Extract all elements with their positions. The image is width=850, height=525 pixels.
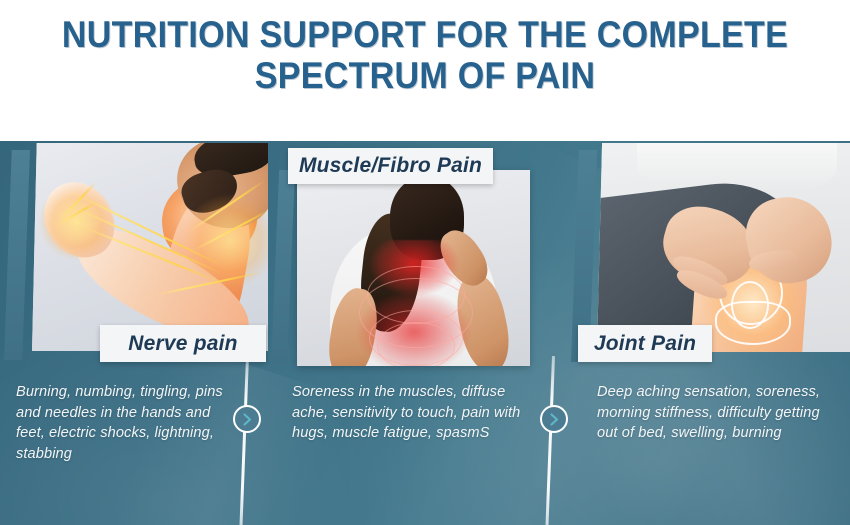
divider-chevron-badge-2 xyxy=(540,405,568,433)
nerve-pain-label-text: Nerve pain xyxy=(128,332,237,356)
page-title-line-1: NUTRITION SUPPORT FOR THE COMPLETE xyxy=(34,14,816,55)
nerve-pain-label: Nerve pain xyxy=(100,325,266,362)
joint-pain-image xyxy=(597,143,850,352)
pain-spectrum-infographic: NUTRITION SUPPORT FOR THE COMPLETE SPECT… xyxy=(0,0,850,525)
nerve-pain-image xyxy=(32,143,268,351)
header-banner: NUTRITION SUPPORT FOR THE COMPLETE SPECT… xyxy=(0,0,850,141)
nerve-pain-description: Burning, numbing, tingling, pins and nee… xyxy=(16,382,230,464)
chevron-right-icon xyxy=(549,413,560,426)
joint-pain-description: Deep aching sensation, soreness, morning… xyxy=(597,382,832,444)
muscle-fibro-pain-label: Muscle/Fibro Pain xyxy=(288,148,493,184)
muscle-fibro-pain-label-text: Muscle/Fibro Pain xyxy=(299,154,482,178)
divider-chevron-badge-1 xyxy=(233,405,261,433)
muscle-fibro-pain-description: Soreness in the muscles, diffuse ache, s… xyxy=(292,382,524,444)
page-title-line-2: SPECTRUM OF PAIN xyxy=(34,55,816,96)
joint-pain-label: Joint Pain xyxy=(578,325,712,362)
chevron-right-icon xyxy=(242,413,253,426)
muscle-fibro-pain-image xyxy=(297,170,530,366)
page-title: NUTRITION SUPPORT FOR THE COMPLETE SPECT… xyxy=(34,14,816,96)
joint-pain-label-text: Joint Pain xyxy=(594,332,696,356)
